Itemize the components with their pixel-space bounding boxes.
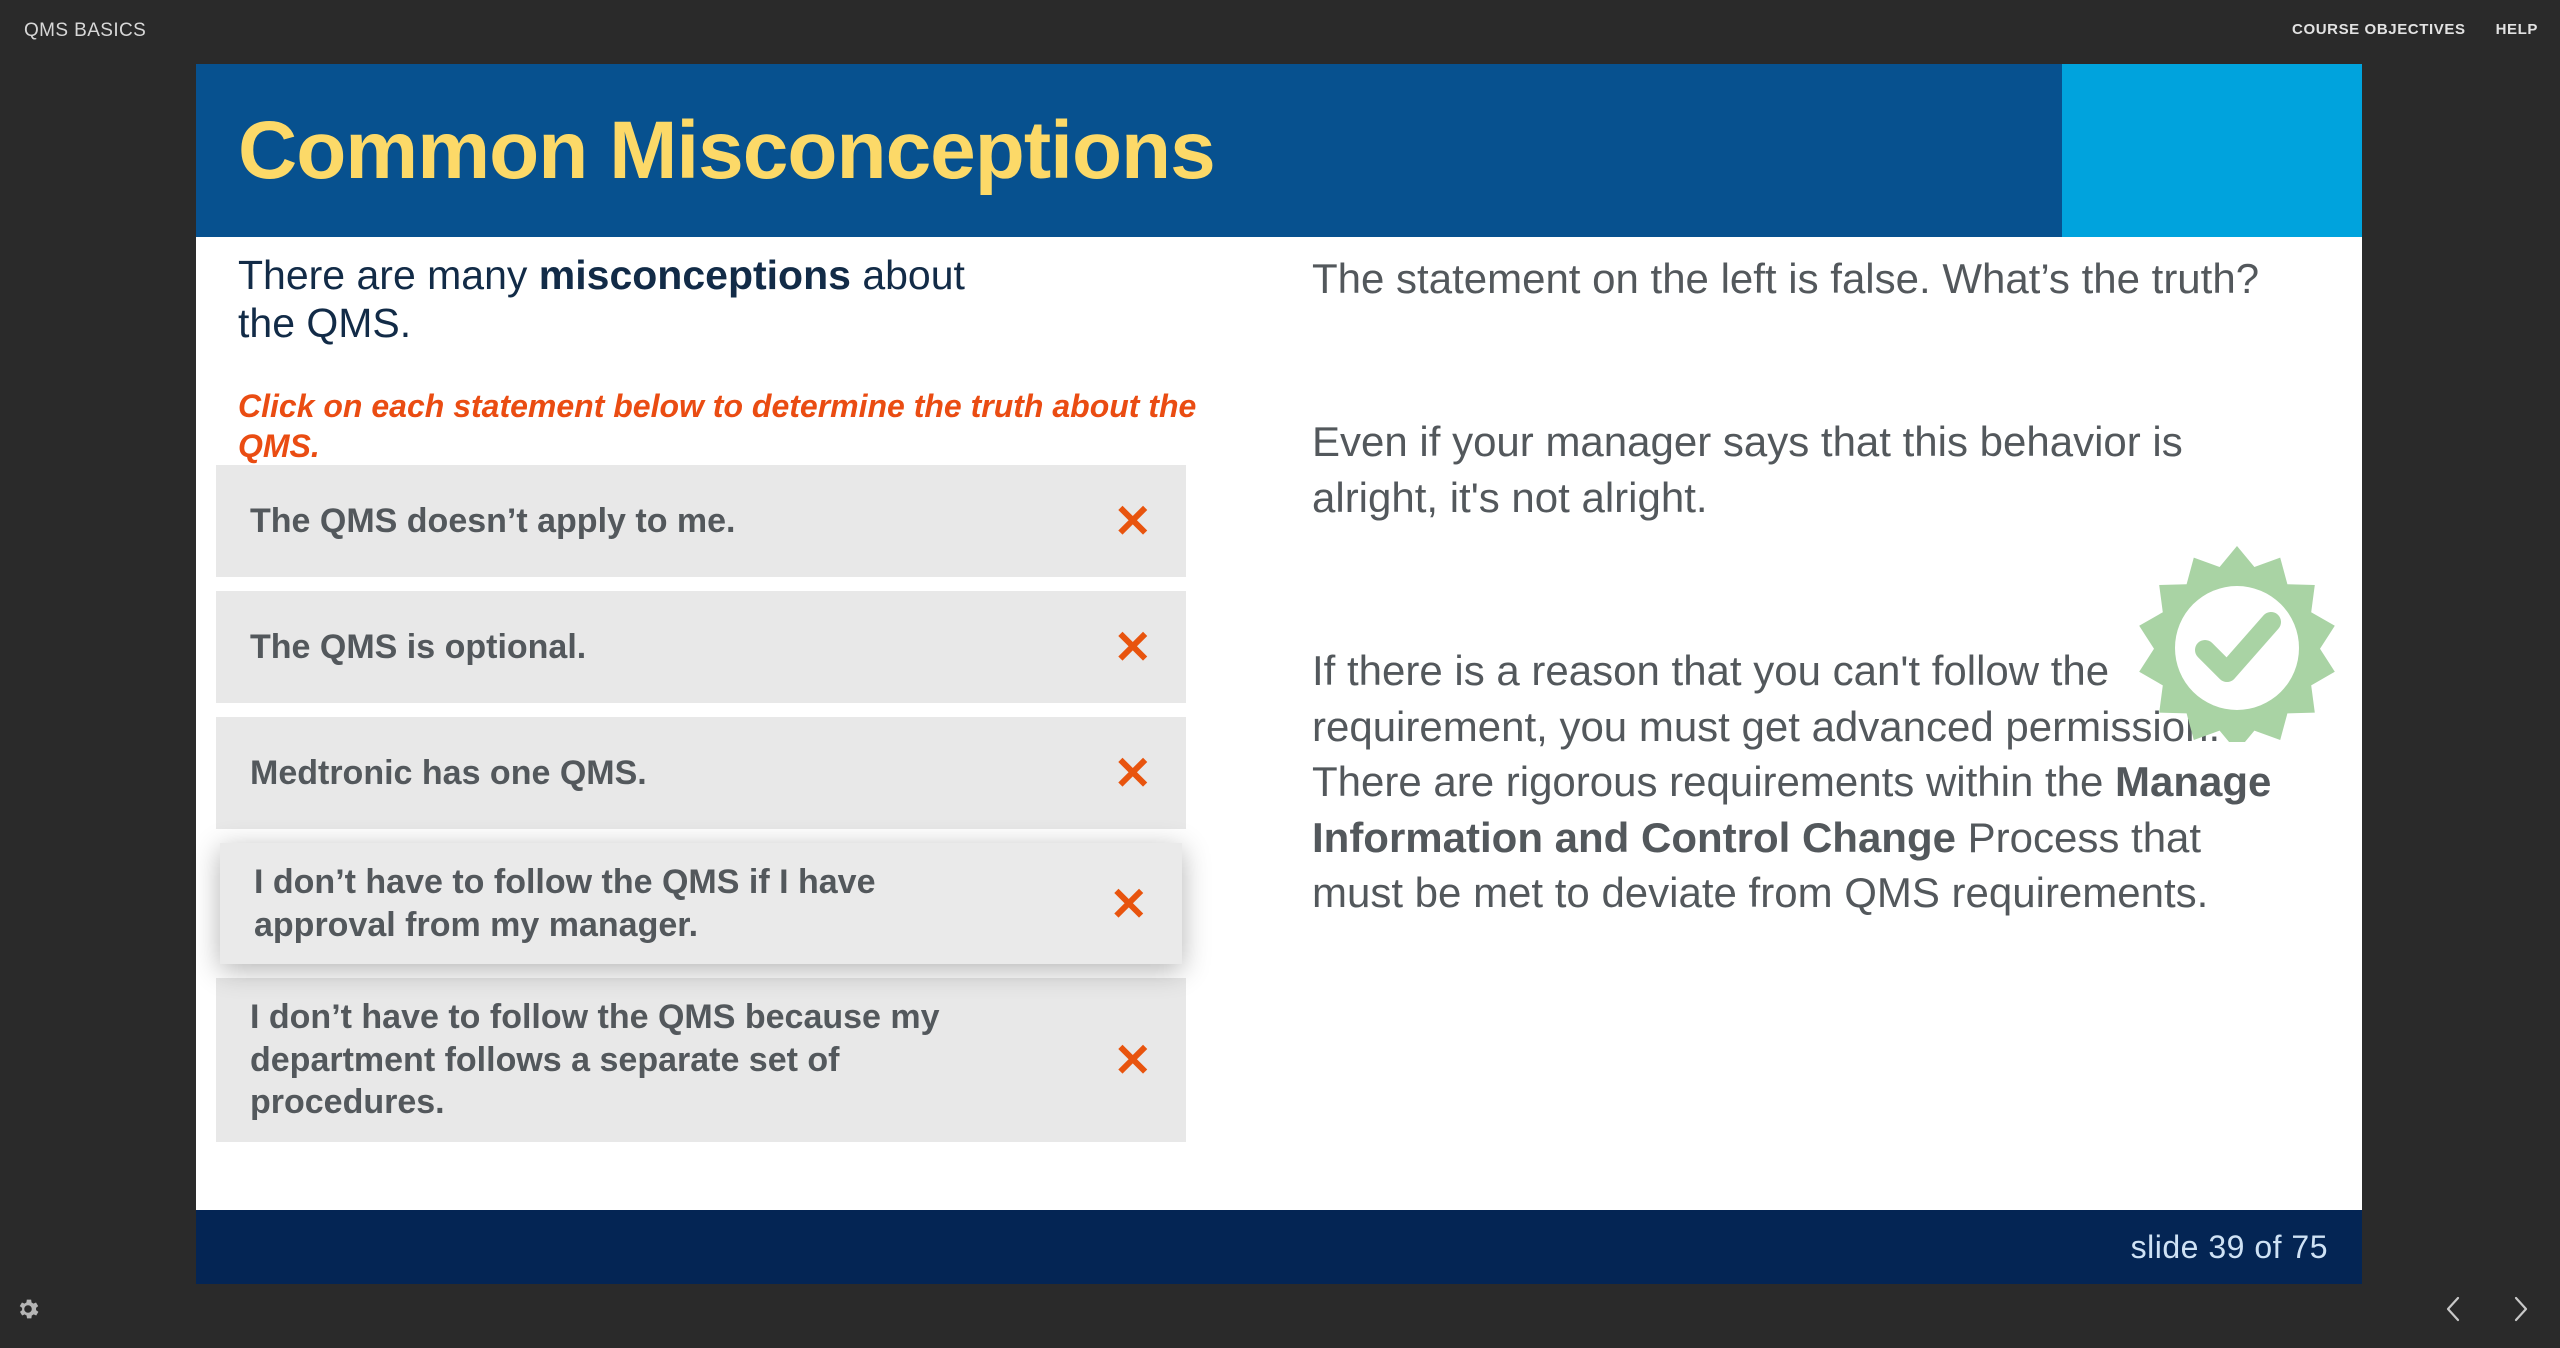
truth-answer-1: Even if your manager says that this beha…: [1312, 414, 2292, 525]
chevron-left-icon: [2442, 1293, 2464, 1325]
cross-mark-icon: ✕: [1113, 624, 1152, 670]
settings-button[interactable]: [14, 1295, 42, 1323]
left-column: There are many misconceptions about the …: [238, 251, 1248, 466]
statement-item-2[interactable]: The QMS is optional. ✕: [216, 591, 1186, 703]
statement-item-3[interactable]: Medtronic has one QMS. ✕: [216, 717, 1186, 829]
slide-header: Common Misconceptions: [196, 64, 2362, 237]
page-title: Common Misconceptions: [238, 104, 1215, 198]
course-player: QMS BASICS COURSE OBJECTIVES HELP Common…: [0, 0, 2560, 1348]
help-link[interactable]: HELP: [2496, 21, 2538, 38]
statement-list: The QMS doesn’t apply to me. ✕ The QMS i…: [216, 465, 1186, 1156]
slide-footer: slide 39 of 75: [196, 1210, 2362, 1284]
top-bar: QMS BASICS COURSE OBJECTIVES HELP: [0, 0, 2560, 62]
slide-body: There are many misconceptions about the …: [196, 237, 2362, 1210]
slide-counter: slide 39 of 75: [2131, 1229, 2362, 1266]
instruction-text: Click on each statement below to determi…: [238, 386, 1228, 466]
gear-icon: [15, 1296, 41, 1322]
statement-label: The QMS doesn’t apply to me.: [250, 500, 736, 543]
previous-slide-button[interactable]: [2438, 1292, 2468, 1326]
header-accent-block: [2062, 64, 2362, 237]
chevron-right-icon: [2510, 1293, 2532, 1325]
statement-label: Medtronic has one QMS.: [250, 752, 647, 795]
course-title: QMS BASICS: [24, 20, 146, 42]
instruction-bold: truth: [971, 388, 1044, 424]
statement-label: I don’t have to follow the QMS because m…: [250, 996, 950, 1124]
cross-mark-icon: ✕: [1113, 750, 1152, 796]
next-slide-button[interactable]: [2506, 1292, 2536, 1326]
cross-mark-icon: ✕: [1113, 498, 1152, 544]
cross-mark-icon: ✕: [1109, 881, 1148, 927]
statement-item-5[interactable]: I don’t have to follow the QMS because m…: [216, 978, 1186, 1142]
cross-mark-icon: ✕: [1113, 1037, 1152, 1083]
truth-answer-2: If there is a reason that you can't foll…: [1312, 643, 2292, 920]
intro-text: There are many misconceptions about the …: [238, 251, 1028, 348]
slide-navigation: [2438, 1292, 2536, 1326]
course-objectives-link[interactable]: COURSE OBJECTIVES: [2292, 21, 2466, 38]
statement-item-1[interactable]: The QMS doesn’t apply to me. ✕: [216, 465, 1186, 577]
statement-label: The QMS is optional.: [250, 626, 586, 669]
top-bar-links: COURSE OBJECTIVES HELP: [2292, 21, 2538, 38]
instruction-part-1: Click on each statement below to determi…: [238, 388, 971, 424]
slide-canvas: Common Misconceptions There are many mis…: [196, 64, 2362, 1284]
statement-item-4[interactable]: I don’t have to follow the QMS if I have…: [220, 843, 1182, 964]
right-column: The statement on the left is false. What…: [1312, 237, 2322, 921]
statement-label: I don’t have to follow the QMS if I have…: [254, 861, 954, 946]
truth-prompt: The statement on the left is false. What…: [1312, 251, 2292, 306]
intro-bold: misconceptions: [539, 252, 851, 298]
answer-2-part-1: If there is a reason that you can't foll…: [1312, 647, 2220, 805]
intro-part-1: There are many: [238, 252, 539, 298]
